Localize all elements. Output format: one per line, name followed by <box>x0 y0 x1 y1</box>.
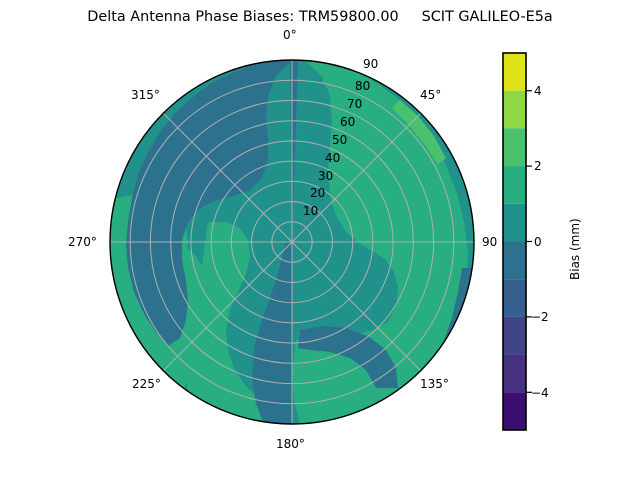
colorbar-tick-label-0: 0 <box>534 235 542 249</box>
colorbar-band-m3-m2 <box>503 317 526 355</box>
radial-tick-90: 90 <box>363 57 378 71</box>
radial-tick-30: 30 <box>318 169 333 183</box>
colorbar-band-0-1 <box>503 204 526 242</box>
radial-tick-10: 10 <box>303 204 318 218</box>
colorbar-band-2-3 <box>503 128 526 166</box>
radial-tick-40: 40 <box>325 151 340 165</box>
colorbar[interactable] <box>490 0 640 480</box>
colorbar-tick-label-4: 4 <box>534 84 542 98</box>
colorbar-band-m5-m4 <box>503 392 526 430</box>
angular-tick-135: 135° <box>420 377 449 391</box>
colorbar-band-m2-m1 <box>503 279 526 317</box>
angular-tick-270: 270° <box>68 235 97 249</box>
colorbar-band-4-5 <box>503 53 526 91</box>
angular-tick-225: 225° <box>132 377 161 391</box>
colorbar-axis-label: Bias (mm) <box>568 218 582 280</box>
radial-tick-50: 50 <box>332 133 347 147</box>
colorbar-bands <box>503 53 526 430</box>
contour-region-lightgreen-south <box>230 418 248 424</box>
radial-tick-80: 80 <box>355 79 370 93</box>
angular-tick-0: 0° <box>283 28 297 42</box>
angular-gridlines <box>110 60 474 424</box>
radial-tick-20: 20 <box>310 186 325 200</box>
radial-tick-60: 60 <box>340 115 355 129</box>
angular-tick-315: 315° <box>131 88 160 102</box>
colorbar-band-m1-0 <box>503 242 526 280</box>
colorbar-tick-label-m2: −2 <box>531 310 549 324</box>
colorbar-tick-label-2: 2 <box>534 159 542 173</box>
colorbar-tick-label-m4: −4 <box>531 386 549 400</box>
angular-tick-180: 180° <box>276 437 305 451</box>
colorbar-band-3-4 <box>503 91 526 129</box>
colorbar-band-1-2 <box>503 166 526 204</box>
radial-tick-70: 70 <box>347 97 362 111</box>
colorbar-ticks <box>526 91 532 393</box>
angular-tick-45: 45° <box>420 88 441 102</box>
matplotlib-figure: Delta Antenna Phase Biases: TRM59800.00 … <box>0 0 640 480</box>
colorbar-band-m4-m3 <box>503 355 526 393</box>
